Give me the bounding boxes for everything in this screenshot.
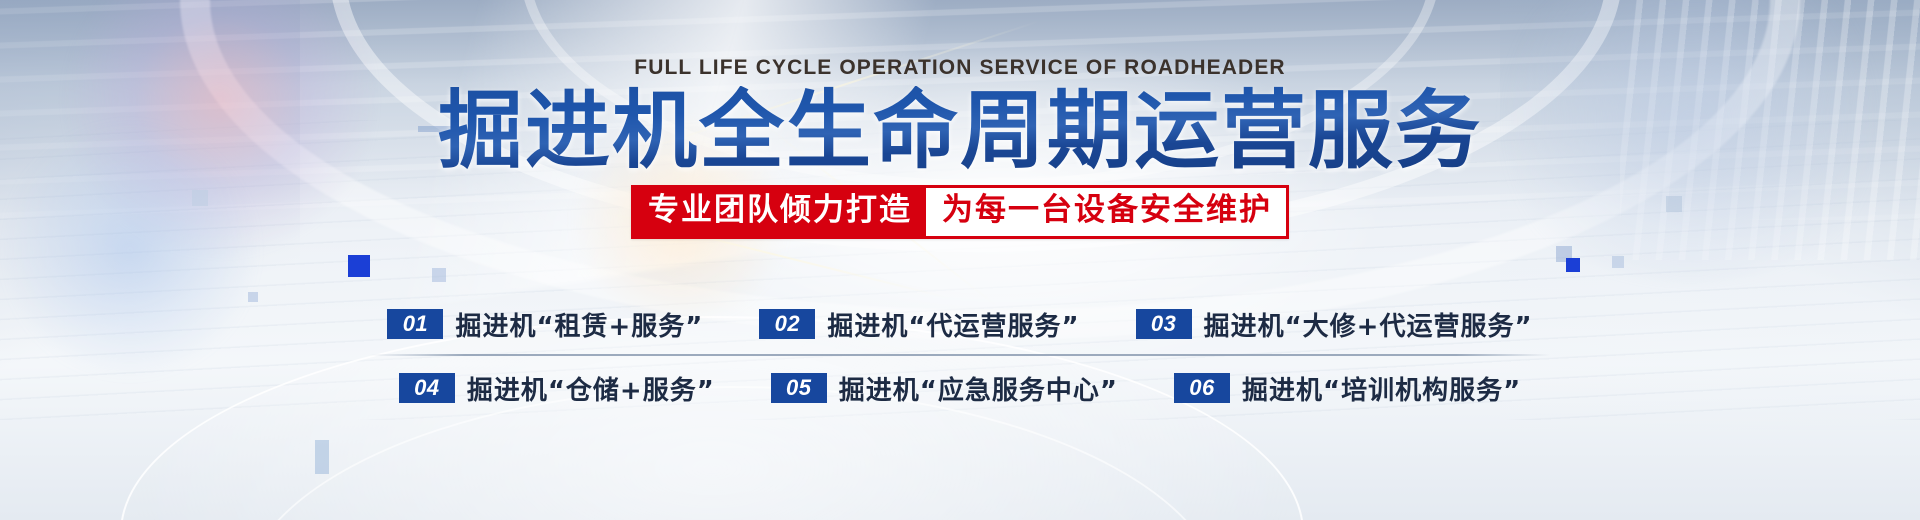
service-item-03[interactable]: 03 掘进机“大修+代运营服务”	[1136, 306, 1533, 343]
service-item-04[interactable]: 04 掘进机“仓储+服务”	[399, 370, 715, 407]
service-label: 掘进机“代运营服务”	[827, 306, 1079, 343]
service-row-bottom: 04 掘进机“仓储+服务” 05 掘进机“应急服务中心” 06 掘进机“培训机构…	[370, 360, 1550, 416]
service-item-05[interactable]: 05 掘进机“应急服务中心”	[771, 370, 1118, 407]
service-label: 掘进机“大修+代运营服务”	[1204, 306, 1533, 343]
ribbon-left-text: 专业团队倾力打造	[634, 188, 926, 236]
service-number-badge: 05	[771, 373, 827, 403]
service-item-01[interactable]: 01 掘进机“租赁+服务”	[387, 306, 703, 343]
service-label: 掘进机“租赁+服务”	[455, 306, 703, 343]
service-item-02[interactable]: 02 掘进机“代运营服务”	[759, 306, 1079, 343]
promo-banner: FULL LIFE CYCLE OPERATION SERVICE OF ROA…	[0, 0, 1920, 520]
service-number-badge: 06	[1174, 373, 1230, 403]
service-label: 掘进机“培训机构服务”	[1242, 370, 1521, 407]
service-number-badge: 04	[399, 373, 455, 403]
banner-content: FULL LIFE CYCLE OPERATION SERVICE OF ROA…	[0, 0, 1920, 520]
service-divider	[370, 354, 1550, 356]
english-caption: FULL LIFE CYCLE OPERATION SERVICE OF ROA…	[0, 56, 1920, 80]
service-number-badge: 01	[387, 309, 443, 339]
service-label: 掘进机“仓储+服务”	[467, 370, 715, 407]
service-number-badge: 02	[759, 309, 815, 339]
ribbon-right-text: 为每一台设备安全维护	[926, 188, 1286, 236]
service-row-top: 01 掘进机“租赁+服务” 02 掘进机“代运营服务” 03 掘进机“大修+代运…	[370, 296, 1550, 352]
tagline-ribbon: 专业团队倾力打造 为每一台设备安全维护	[631, 185, 1289, 239]
service-list: 01 掘进机“租赁+服务” 02 掘进机“代运营服务” 03 掘进机“大修+代运…	[370, 296, 1550, 416]
service-number-badge: 03	[1136, 309, 1192, 339]
headline-title: 掘进机全生命周期运营服务	[0, 86, 1920, 178]
service-label: 掘进机“应急服务中心”	[839, 370, 1118, 407]
service-item-06[interactable]: 06 掘进机“培训机构服务”	[1174, 370, 1521, 407]
